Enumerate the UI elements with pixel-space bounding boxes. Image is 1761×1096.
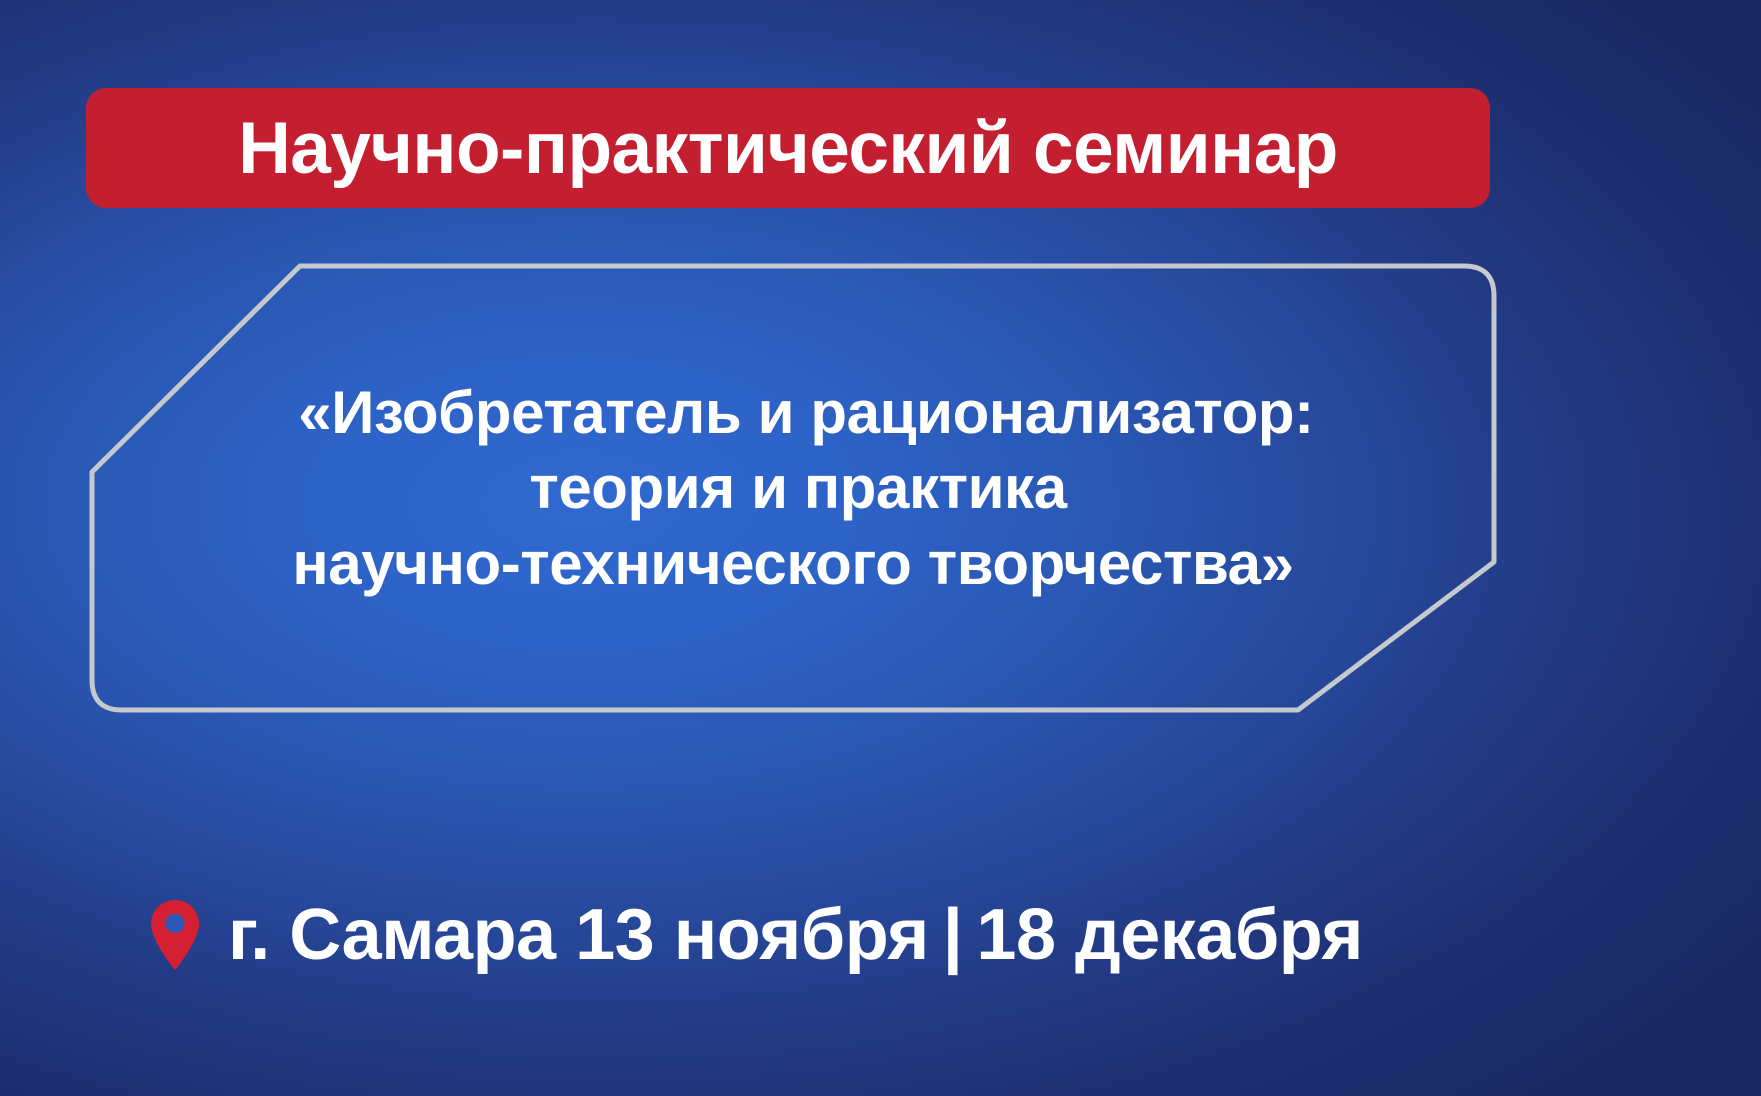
- seminar-type-banner: Научно-практический семинар: [86, 88, 1490, 208]
- frame-outline-icon: [88, 262, 1498, 714]
- location-and-dates: г. Самара 13 ноября | 18 декабря: [148, 880, 1363, 990]
- date-separator: |: [929, 899, 977, 971]
- date-first: 13 ноября: [575, 899, 929, 971]
- topic-frame: [88, 262, 1498, 714]
- map-pin-icon: [148, 898, 202, 972]
- event-poster: Научно-практический семинар «Изобретател…: [0, 0, 1761, 1096]
- banner-title: Научно-практический семинар: [238, 112, 1338, 185]
- date-second: 18 декабря: [976, 899, 1362, 971]
- city-label: г. Самара: [228, 899, 556, 971]
- footer-text: г. Самара 13 ноября | 18 декабря: [228, 899, 1363, 971]
